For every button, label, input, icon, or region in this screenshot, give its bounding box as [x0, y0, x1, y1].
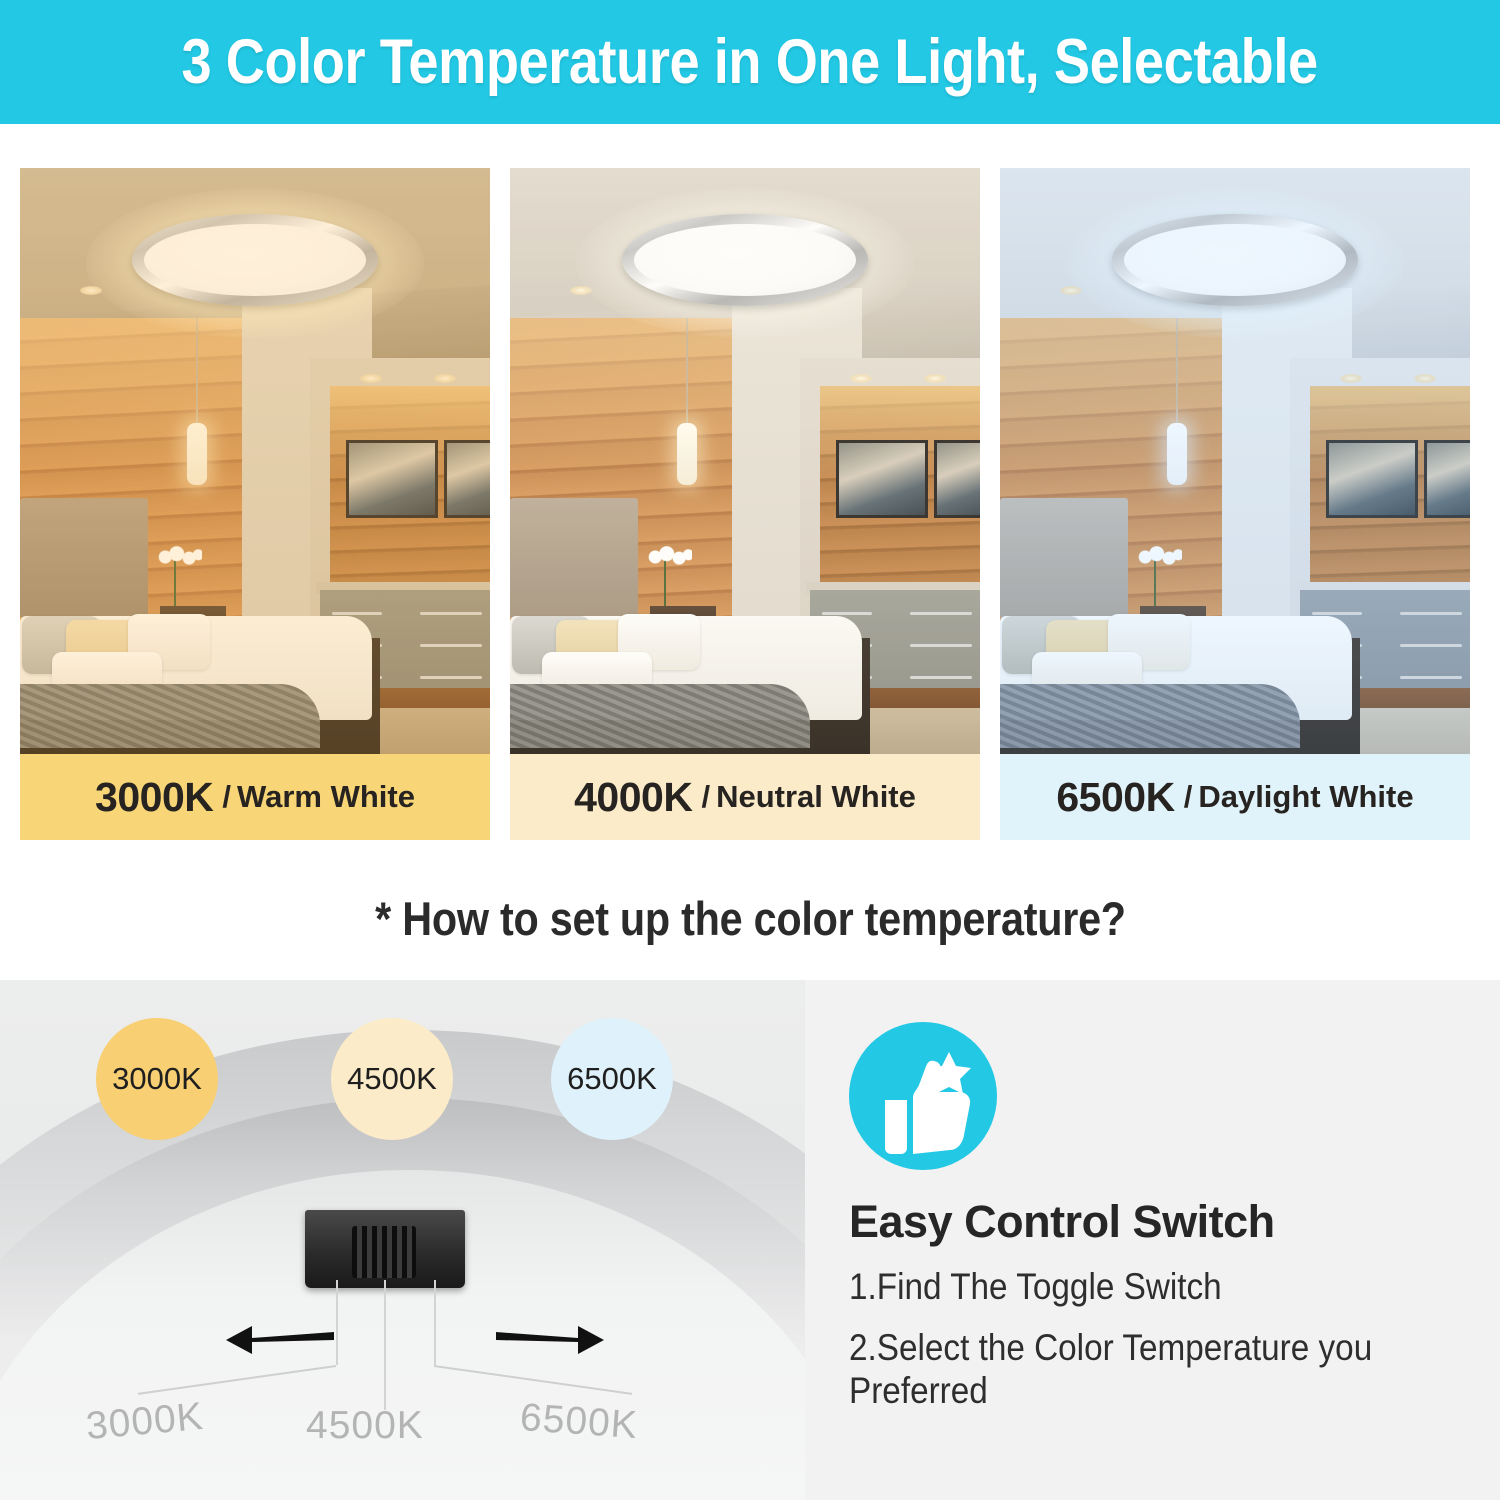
drawer-handle: [1312, 612, 1362, 615]
fixture-lens: [144, 224, 366, 296]
arrow-right-icon: [488, 1318, 608, 1362]
recessed-light-icon: [434, 374, 456, 383]
room-panel-3000k: 3000K / Warm White: [20, 168, 490, 840]
room-image-3000k: [20, 168, 490, 754]
drawer-handle: [910, 676, 972, 679]
drawer-handle: [1400, 676, 1462, 679]
drawer-handle: [420, 644, 482, 647]
color-bubble-label: 4500K: [347, 1061, 437, 1097]
fixture-lens: [1124, 224, 1346, 296]
drawer-handle: [910, 644, 972, 647]
info-step-2: 2.Select the Color Temperature you Prefe…: [849, 1327, 1395, 1413]
pendant-lamp: [187, 423, 207, 485]
ceiling-light-fixture: [1112, 214, 1358, 306]
pendant-cord: [1176, 318, 1178, 426]
room-panel-6500k: 6500K / Daylight White: [1000, 168, 1470, 840]
switch-right-line: [434, 1280, 436, 1365]
fixture-lens: [634, 224, 856, 296]
info-panel: Easy Control Switch 1.Find The Toggle Sw…: [805, 980, 1500, 1500]
headboard: [1000, 498, 1128, 618]
orchid-flowers: [646, 546, 692, 568]
info-title: Easy Control Switch: [849, 1196, 1456, 1248]
info-step-1: 1.Find The Toggle Switch: [849, 1266, 1395, 1309]
label-strip-3000k: 3000K / Warm White: [20, 754, 490, 840]
bottom-section: 3000K 4500K 6500K 3000K 4500K 6500K Easy…: [0, 980, 1500, 1500]
wall-glow: [510, 318, 732, 468]
separator: /: [222, 779, 231, 815]
switch-center-line: [384, 1280, 386, 1410]
drawer-handle: [1400, 612, 1462, 615]
room-comparison-panels: 3000K / Warm White: [0, 168, 1500, 840]
howto-heading: * How to set up the color temperature?: [0, 876, 1500, 960]
wall-glow: [1000, 318, 1222, 468]
room-panel-4000k: 4000K / Neutral White: [510, 168, 980, 840]
thumbs-up-star-icon: [849, 1022, 997, 1170]
framed-artwork: [836, 440, 928, 518]
printed-label-4500k: 4500K: [306, 1404, 424, 1448]
header-banner: 3 Color Temperature in One Light, Select…: [0, 0, 1500, 124]
room-image-6500k: [1000, 168, 1470, 754]
room-image-4000k: [510, 168, 980, 754]
recessed-light-icon: [850, 374, 872, 383]
bed-throw-blanket: [510, 684, 810, 748]
orchid-flowers: [156, 546, 202, 568]
separator: /: [701, 779, 710, 815]
orchid-flowers: [1136, 546, 1182, 568]
label-strip-4000k: 4000K / Neutral White: [510, 754, 980, 840]
wall-glow: [20, 318, 242, 468]
framed-artwork: [346, 440, 438, 518]
pendant-cord: [686, 318, 688, 426]
recessed-light-icon: [1340, 374, 1362, 383]
kelvin-name: Neutral White: [716, 779, 916, 815]
toggle-switch-ridges[interactable]: [352, 1226, 416, 1278]
banner-title: 3 Color Temperature in One Light, Select…: [182, 26, 1318, 98]
kelvin-value: 4000K: [574, 774, 692, 821]
label-strip-6500k: 6500K / Daylight White: [1000, 754, 1470, 840]
kelvin-name: Daylight White: [1198, 779, 1413, 815]
headboard: [510, 498, 638, 618]
recessed-light-icon: [924, 374, 946, 383]
color-bubble-label: 3000K: [112, 1061, 202, 1097]
separator: /: [1184, 779, 1193, 815]
drawer-handle: [910, 612, 972, 615]
ceiling-light-fixture: [622, 214, 868, 306]
printed-label-6500k: 6500K: [519, 1396, 640, 1448]
framed-artwork: [1326, 440, 1418, 518]
kelvin-name: Warm White: [237, 779, 415, 815]
product-closeup-photo: 3000K 4500K 6500K 3000K 4500K 6500K: [0, 980, 805, 1500]
color-bubble-label: 6500K: [567, 1061, 657, 1097]
drawer-handle: [420, 676, 482, 679]
ceiling-light-fixture: [132, 214, 378, 306]
pendant-lamp: [677, 423, 697, 485]
recessed-light-icon: [360, 374, 382, 383]
recessed-light-icon: [1414, 374, 1436, 383]
headboard: [20, 498, 148, 618]
drawer-handle: [420, 612, 482, 615]
kelvin-value: 6500K: [1056, 774, 1174, 821]
drawer-handle: [822, 612, 872, 615]
pendant-cord: [196, 318, 198, 426]
bed-throw-blanket: [20, 684, 320, 748]
color-bubble-6500k: 6500K: [551, 1018, 673, 1140]
color-bubble-3000k: 3000K: [96, 1018, 218, 1140]
framed-artwork: [444, 440, 490, 518]
framed-artwork: [1424, 440, 1470, 518]
drawer-handle: [332, 612, 382, 615]
pendant-lamp: [1167, 423, 1187, 485]
bed-throw-blanket: [1000, 684, 1300, 748]
drawer-handle: [1400, 644, 1462, 647]
color-bubble-4500k: 4500K: [331, 1018, 453, 1140]
framed-artwork: [934, 440, 980, 518]
howto-text: * How to set up the color temperature?: [375, 891, 1126, 946]
arrow-left-icon: [222, 1318, 342, 1362]
kelvin-value: 3000K: [95, 774, 213, 821]
